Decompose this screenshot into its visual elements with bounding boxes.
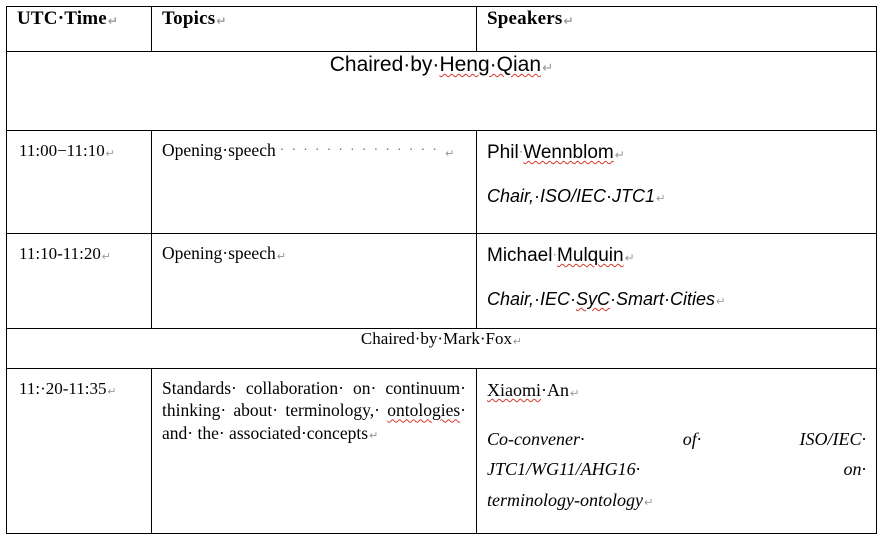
session-time-cell: 11:10-11:20↵ xyxy=(7,234,152,329)
session-speaker: Phil·Wennblom↵ Chair,·ISO/IEC·JTC1↵ xyxy=(477,131,876,213)
speaker-role-line-3: terminology-ontology↵ xyxy=(487,485,866,516)
session-time-text: 11:10-11:20 xyxy=(19,244,101,263)
session-speaker-cell: Xiaomi·An↵ Co-convener·of·ISO/IEC· JTC1/… xyxy=(477,369,877,534)
chair-banner-cell: Chaired·by·Heng·Qian↵ xyxy=(7,52,877,131)
paragraph-mark: ↵ xyxy=(563,14,574,28)
speaker-role: Chair,·IEC·SyC·Smart·Cities↵ xyxy=(487,288,866,311)
speaker-name: Xiaomi·An↵ xyxy=(487,379,866,402)
session-topic: Opening·speech··············↵ xyxy=(152,131,476,233)
column-header-topics-text: Topics xyxy=(162,8,215,29)
paragraph-mark: ↵ xyxy=(105,148,115,160)
column-header-time-label: UTC·Time↵ xyxy=(7,7,151,30)
chair-banner-text: Chaired·by·Mark·Fox↵ xyxy=(7,329,876,349)
column-header-topics: Topics↵ xyxy=(152,7,477,52)
column-header-time-text: UTC·Time xyxy=(17,8,107,29)
session-speaker-cell: Phil·Wennblom↵ Chair,·ISO/IEC·JTC1↵ xyxy=(477,131,877,234)
paragraph-mark: ↵ xyxy=(715,296,726,308)
speaker-lastname: Mulquin xyxy=(557,245,624,266)
column-header-topics-label: Topics↵ xyxy=(152,7,476,30)
speaker-lastname: ·An xyxy=(541,380,569,400)
chair-banner-cell: Chaired·by·Mark·Fox↵ xyxy=(7,329,877,369)
paragraph-mark: ↵ xyxy=(368,430,378,442)
chair-banner-prefix: Chaired·by· xyxy=(361,329,443,348)
speaker-firstname: Phil xyxy=(487,142,519,163)
speaker-firstname: Xiaomi xyxy=(487,380,541,400)
paragraph-mark: ↵ xyxy=(276,251,286,263)
session-topic-cell: Standards· collaboration· on· continuum·… xyxy=(152,369,477,534)
paragraph-mark: ↵ xyxy=(444,148,454,160)
paragraph-mark: ↵ xyxy=(512,336,522,348)
topic-leader-dots: ·············· xyxy=(276,142,444,157)
table-row: 11:10-11:20↵ Opening·speech↵ Michael·Mul… xyxy=(7,234,877,329)
document-page: UTC·Time↵ Topics↵ Speakers↵ Chaired·by·H… xyxy=(0,0,882,546)
speaker-firstname: Michael xyxy=(487,245,552,266)
paragraph-mark: ↵ xyxy=(107,386,117,398)
session-speaker-cell: Michael·Mulquin↵ Chair,·IEC·SyC·Smart·Ci… xyxy=(477,234,877,329)
speaker-role-token: terminology-ontology xyxy=(487,490,643,510)
session-topic-misspelled: ontologies xyxy=(387,400,460,420)
table-row: 11:·20-11:35↵ Standards· collaboration· … xyxy=(7,369,877,534)
session-time: 11:·20-11:35↵ xyxy=(7,369,151,403)
speaker-role-token: ISO/IEC· xyxy=(799,424,866,455)
paragraph-mark: ↵ xyxy=(655,193,666,205)
session-topic: Standards· collaboration· on· continuum·… xyxy=(152,369,476,533)
speaker-name: Michael·Mulquin↵ xyxy=(487,244,866,268)
paragraph-mark: ↵ xyxy=(215,14,226,28)
paragraph-mark: ↵ xyxy=(107,14,118,28)
paragraph-mark: ↵ xyxy=(624,251,635,265)
session-topic-text: Opening·speech xyxy=(162,243,276,263)
column-header-speakers-label: Speakers↵ xyxy=(477,7,876,30)
agenda-table: UTC·Time↵ Topics↵ Speakers↵ Chaired·by·H… xyxy=(6,6,877,534)
table-row: 11:00−11:10↵ Opening·speech·············… xyxy=(7,131,877,234)
paragraph-mark: ↵ xyxy=(569,388,580,400)
session-time-text: 11:·20-11:35 xyxy=(19,379,107,398)
session-speaker: Xiaomi·An↵ Co-convener·of·ISO/IEC· JTC1/… xyxy=(477,369,876,521)
session-topic-cell: Opening·speech··············↵ xyxy=(152,131,477,234)
speaker-role-token: on· xyxy=(844,454,867,485)
speaker-role-token: Co-convener· xyxy=(487,424,584,455)
speaker-role-token: of· xyxy=(683,424,702,455)
chair-banner-prefix: Chaired·by· xyxy=(330,53,440,76)
speaker-role-line-2: JTC1/WG11/AHG16·on· xyxy=(487,454,866,485)
speaker-lastname: Wennblom xyxy=(523,142,613,163)
session-topic-text: Opening·speech xyxy=(162,140,276,160)
speaker-role-misspelled: SyC xyxy=(576,289,610,309)
speaker-name: Phil·Wennblom↵ xyxy=(487,141,866,165)
paragraph-mark: ↵ xyxy=(614,148,625,162)
session-time-text: 11:00−11:10 xyxy=(19,141,105,160)
column-header-speakers: Speakers↵ xyxy=(477,7,877,52)
table-header-row: UTC·Time↵ Topics↵ Speakers↵ xyxy=(7,7,877,52)
paragraph-mark: ↵ xyxy=(101,251,111,263)
session-speaker: Michael·Mulquin↵ Chair,·IEC·SyC·Smart·Ci… xyxy=(477,234,876,316)
speaker-role-part2: ·Smart·Cities xyxy=(610,289,715,309)
session-time: 11:10-11:20↵ xyxy=(7,234,151,268)
session-time: 11:00−11:10↵ xyxy=(7,131,151,165)
session-topic-cell: Opening·speech↵ xyxy=(152,234,477,329)
chair-banner-row-heng-qian: Chaired·by·Heng·Qian↵ xyxy=(7,52,877,131)
chair-banner-row-mark-fox: Chaired·by·Mark·Fox↵ xyxy=(7,329,877,369)
speaker-role-token: JTC1/WG11/AHG16· xyxy=(487,454,640,485)
paragraph-mark: ↵ xyxy=(643,497,654,509)
paragraph-mark: ↵ xyxy=(541,60,553,75)
chair-banner-name: Heng·Qian xyxy=(439,53,541,76)
session-topic: Opening·speech↵ xyxy=(152,234,476,328)
speaker-role-part1: Chair,·IEC· xyxy=(487,289,576,309)
speaker-role: Chair,·ISO/IEC·JTC1↵ xyxy=(487,185,866,208)
session-time-cell: 11:·20-11:35↵ xyxy=(7,369,152,534)
chair-banner-name: Mark·Fox xyxy=(443,329,512,348)
column-header-time: UTC·Time↵ xyxy=(7,7,152,52)
chair-banner-text: Chaired·by·Heng·Qian↵ xyxy=(7,52,876,77)
session-time-cell: 11:00−11:10↵ xyxy=(7,131,152,234)
column-header-speakers-text: Speakers xyxy=(487,8,563,29)
speaker-role: Co-convener·of·ISO/IEC· JTC1/WG11/AHG16·… xyxy=(487,424,866,516)
speaker-role-text: Chair,·ISO/IEC·JTC1 xyxy=(487,186,655,206)
speaker-role-line-1: Co-convener·of·ISO/IEC· xyxy=(487,424,866,455)
